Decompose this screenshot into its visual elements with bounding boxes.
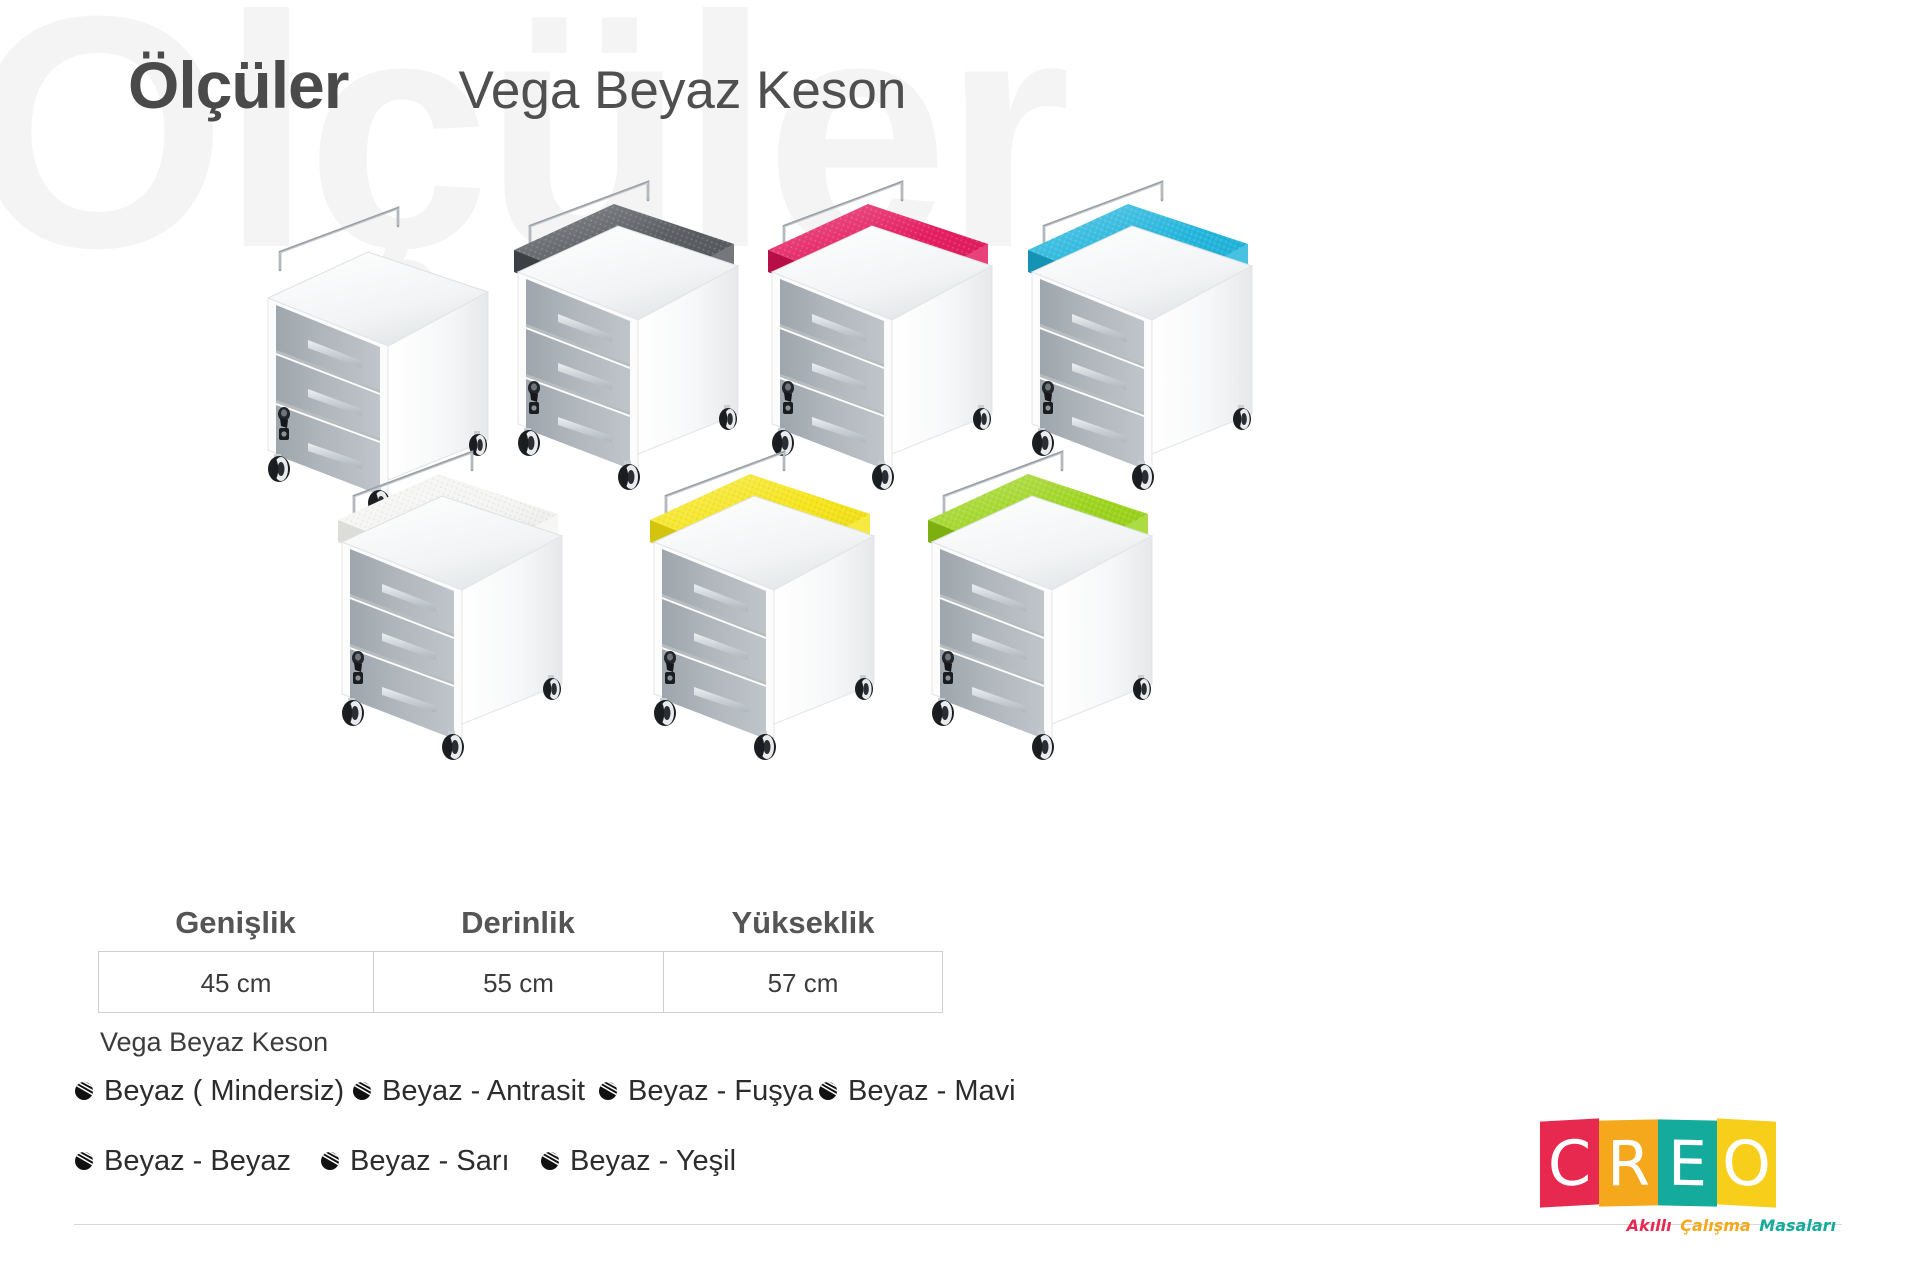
logo-letter-c: C xyxy=(1540,1118,1599,1207)
logo-letter-o: O xyxy=(1717,1118,1776,1207)
swatch-bullet-icon xyxy=(818,1081,838,1101)
list-item: Beyaz - Mavi xyxy=(818,1075,1016,1108)
cell-height: 57 cm xyxy=(663,951,943,1013)
page-header: Ölçüler Vega Beyaz Keson xyxy=(128,52,906,118)
legend-item-label: Beyaz - Mavi xyxy=(848,1075,1016,1108)
logo-tagline: Akıllı Çalışma Masaları xyxy=(1540,1216,1840,1235)
creo-logo-tiles: C R E O xyxy=(1540,1120,1840,1206)
legend-row: Beyaz - Beyaz Beyaz - Sarı Beyaz - Yeşil xyxy=(74,1133,1374,1189)
vega-keson-beyaz xyxy=(320,456,620,756)
creo-logo: C R E O Akıllı Çalışma Masaları xyxy=(1540,1120,1840,1235)
swatch-bullet-icon xyxy=(540,1151,560,1171)
vega-keson-mavi xyxy=(1010,186,1310,486)
swatch-bullet-icon xyxy=(818,1081,838,1101)
list-item: Beyaz - Sarı xyxy=(320,1145,510,1178)
color-options-legend: Beyaz ( Mindersiz) Beyaz - Antrasit Beya… xyxy=(74,1063,1374,1189)
table-caption: Vega Beyaz Keson xyxy=(100,1027,943,1058)
swatch-bullet-icon xyxy=(74,1151,94,1171)
logo-letter-e: E xyxy=(1658,1119,1717,1206)
swatch-bullet-icon xyxy=(598,1081,618,1101)
vega-keson-yesil xyxy=(910,456,1210,756)
cabinet-illustration xyxy=(320,456,620,756)
tagline-word-2: Çalışma xyxy=(1680,1216,1751,1235)
swatch-bullet-icon xyxy=(540,1151,560,1171)
dimensions-table: Genişlik Derinlik Yükseklik 45 cm 55 cm … xyxy=(98,905,943,1058)
table-row: 45 cm 55 cm 57 cm xyxy=(98,951,943,1013)
cabinet-illustration xyxy=(632,456,932,756)
vega-keson-sari xyxy=(632,456,932,756)
cell-width: 45 cm xyxy=(98,951,373,1013)
list-item: Beyaz ( Mindersiz) xyxy=(74,1075,344,1108)
vega-keson-fusya xyxy=(750,186,1050,486)
legend-item-label: Beyaz - Beyaz xyxy=(104,1145,291,1178)
dimensions-table-header: Genişlik Derinlik Yükseklik xyxy=(98,905,943,951)
tagline-word-3: Masaları xyxy=(1759,1216,1836,1235)
legend-item-label: Beyaz - Sarı xyxy=(350,1145,510,1178)
swatch-bullet-icon xyxy=(74,1081,94,1101)
list-item: Beyaz - Beyaz xyxy=(74,1145,291,1178)
swatch-bullet-icon xyxy=(320,1151,340,1171)
column-header-depth: Derinlik xyxy=(373,905,663,951)
list-item: Beyaz - Fuşya xyxy=(598,1075,813,1108)
legend-row: Beyaz ( Mindersiz) Beyaz - Antrasit Beya… xyxy=(74,1063,1374,1119)
swatch-bullet-icon xyxy=(598,1081,618,1101)
column-header-height: Yükseklik xyxy=(663,905,943,951)
list-item: Beyaz - Antrasit xyxy=(352,1075,585,1108)
swatch-bullet-icon xyxy=(320,1151,340,1171)
legend-item-label: Beyaz - Fuşya xyxy=(628,1075,813,1108)
tagline-word-1: Akıllı xyxy=(1627,1216,1672,1235)
swatch-bullet-icon xyxy=(352,1081,372,1101)
list-item: Beyaz - Yeşil xyxy=(540,1145,736,1178)
product-spec-sheet: Ölçüler Ölçüler Vega Beyaz Keson xyxy=(0,0,1920,1280)
swatch-bullet-icon xyxy=(74,1081,94,1101)
column-header-width: Genişlik xyxy=(98,905,373,951)
cabinet-illustration xyxy=(910,456,1210,756)
product-gallery xyxy=(0,0,1920,900)
logo-letter-r: R xyxy=(1599,1119,1658,1206)
swatch-bullet-icon xyxy=(352,1081,372,1101)
cabinet-illustration xyxy=(1010,186,1310,486)
swatch-bullet-icon xyxy=(74,1151,94,1171)
legend-item-label: Beyaz - Antrasit xyxy=(382,1075,585,1108)
page-subtitle: Vega Beyaz Keson xyxy=(458,64,906,117)
cell-depth: 55 cm xyxy=(373,951,663,1013)
cabinet-illustration xyxy=(750,186,1050,486)
legend-item-label: Beyaz ( Mindersiz) xyxy=(104,1075,344,1108)
legend-item-label: Beyaz - Yeşil xyxy=(570,1145,736,1178)
page-title: Ölçüler xyxy=(128,52,348,118)
